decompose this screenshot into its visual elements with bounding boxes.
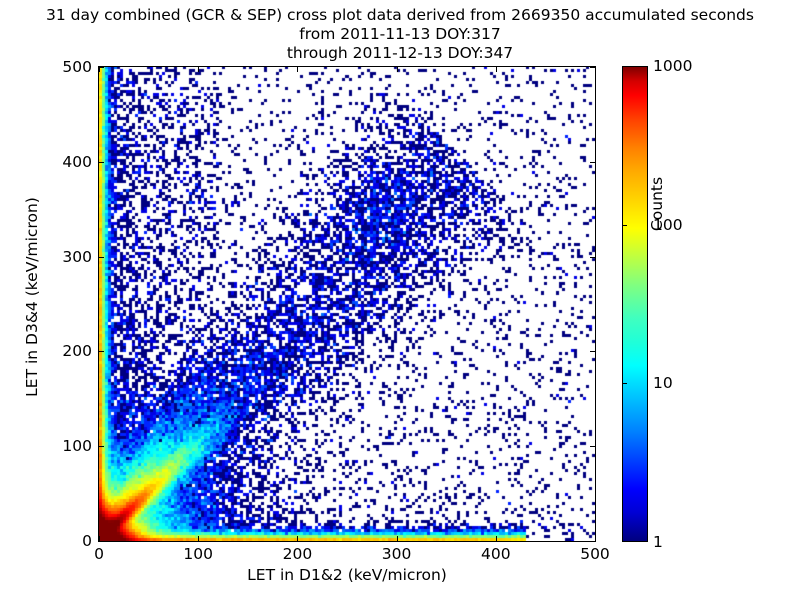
colorbar-tick <box>622 225 627 226</box>
y-tick-right <box>590 67 595 68</box>
y-tick-right <box>590 257 595 258</box>
x-tick-label: 400 <box>481 545 511 563</box>
x-tick <box>198 536 199 541</box>
x-tick-label: 100 <box>183 545 213 563</box>
y-tick-right <box>590 162 595 163</box>
y-tick-label: 100 <box>62 437 92 455</box>
y-tick <box>99 67 104 68</box>
x-tick <box>595 536 596 541</box>
x-tick-label: 200 <box>283 545 313 563</box>
colorbar-tick-label: 1000 <box>653 57 692 75</box>
colorbar-tick <box>622 383 627 384</box>
y-tick <box>99 541 104 542</box>
colorbar-tick-label: 1 <box>653 533 663 551</box>
colorbar-tick-label: 10 <box>653 374 673 392</box>
y-tick-right <box>590 541 595 542</box>
y-tick-label: 400 <box>62 153 92 171</box>
x-tick <box>297 536 298 541</box>
plot-axes <box>98 66 596 542</box>
y-tick <box>99 351 104 352</box>
y-tick-label: 500 <box>62 58 92 76</box>
x-tick-top <box>397 67 398 72</box>
y-axis-label: LET in D3&4 (keV/micron) <box>23 147 41 447</box>
x-tick-top <box>595 67 596 72</box>
figure-canvas: 31 day combined (GCR & SEP) cross plot d… <box>0 0 800 600</box>
x-tick-label: 0 <box>94 545 104 563</box>
y-tick-right <box>590 446 595 447</box>
x-tick <box>397 536 398 541</box>
x-tick-label: 500 <box>580 545 610 563</box>
colorbar-label: Counts <box>648 104 666 304</box>
x-tick-label: 300 <box>382 545 412 563</box>
x-tick-top <box>297 67 298 72</box>
y-tick-labels: 0100200300400500 <box>0 0 92 600</box>
chart-title: 31 day combined (GCR & SEP) cross plot d… <box>0 6 800 63</box>
title-line-2: from 2011-11-13 DOY:317 <box>0 25 800 44</box>
density-scatter-plot <box>99 67 595 541</box>
colorbar <box>622 66 648 542</box>
y-tick-label: 200 <box>62 342 92 360</box>
y-tick <box>99 162 104 163</box>
x-axis-label: LET in D1&2 (keV/micron) <box>98 566 596 584</box>
y-tick <box>99 446 104 447</box>
x-tick-top <box>198 67 199 72</box>
x-tick <box>496 536 497 541</box>
y-tick-label: 300 <box>62 248 92 266</box>
x-tick-top <box>496 67 497 72</box>
y-tick-label: 0 <box>82 532 92 550</box>
y-tick <box>99 257 104 258</box>
title-line-1: 31 day combined (GCR & SEP) cross plot d… <box>0 6 800 25</box>
y-tick-right <box>590 351 595 352</box>
